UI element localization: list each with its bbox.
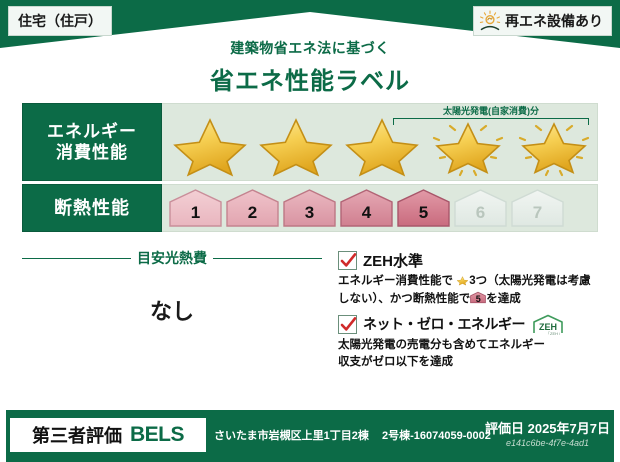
checkbox-checked: [338, 315, 357, 334]
svg-text:「ZEH」: 「ZEH」: [546, 330, 562, 335]
claim-net-zero-energy-description: 太陽光発電の売電分も含めてエネルギー 収支がゼロ以下を達成: [338, 337, 600, 370]
insulation-performance-label: 断熱性能: [22, 184, 162, 232]
utility-cost-heading: 目安光熱費: [22, 248, 322, 268]
checkbox-checked: [338, 251, 357, 270]
insulation-badge-inactive: 7: [510, 188, 565, 228]
claim-zeh-standard-header: ZEH水準: [338, 250, 600, 271]
title-subtitle: 建築物省エネ法に基づく: [0, 38, 620, 58]
insulation-badge-value: 2: [248, 204, 257, 228]
bels-certification-badge: 第三者評価 BELS: [10, 418, 206, 452]
building-type-badge: 住宅（住戸）: [8, 6, 112, 36]
solar-annotation-label: 太陽光発電(自家消費)分: [393, 104, 589, 117]
insulation-badge-value: 6: [476, 204, 485, 228]
evaluation-date-value: 2025年7月7日: [528, 421, 610, 436]
star-icon-sparkle: [512, 116, 596, 178]
insulation-performance-row: 断熱性能: [22, 184, 598, 232]
star-icon: [168, 116, 252, 178]
insulation-badge: 1: [168, 188, 223, 228]
claim-net-zero-energy-header: ネット・ゼロ・エネルギー ZEH 「ZEH」: [338, 313, 600, 335]
heading-rule-left: [22, 258, 131, 259]
evaluation-date-line: 評価日 2025年7月7日: [485, 418, 610, 437]
insulation-badge-inactive: 6: [453, 188, 508, 228]
renewable-equipment-badge: 再エネ設備あり: [473, 6, 612, 36]
star-icon: [254, 116, 338, 178]
insulation-badge-value: 1: [191, 204, 200, 228]
address-text: さいたま市岩槻区上里1丁目2棟: [214, 430, 369, 442]
rating-table: エネルギー 消費性能 太陽光発電(自家消費)分: [22, 103, 598, 232]
insulation-badge-value: 4: [362, 204, 371, 228]
claim-zeh-standard-description: エネルギー消費性能で 3つ（太陽光発電は考慮しない）、かつ断熱性能で 5 を達成: [338, 273, 600, 307]
insulation-badge: 3: [282, 188, 337, 228]
label-titles: 建築物省エネ法に基づく 省エネ性能ラベル: [0, 38, 620, 96]
certificate-hash: e141c6be-4f7e-4ad1: [485, 438, 610, 448]
insulation-grade-scale: 1 2 3: [168, 188, 565, 228]
zeh-house-logo: ZEH 「ZEH」: [531, 313, 565, 335]
insulation-badge-value: 3: [305, 204, 314, 228]
bels-third-party-label: 第三者評価: [32, 422, 122, 448]
energy-performance-row: エネルギー 消費性能 太陽光発電(自家消費)分: [22, 103, 598, 181]
bels-energy-label: 住宅（住戸） 再エネ設備あり 建築物省エネ法に基づく: [0, 0, 620, 462]
zeh-claims-section: ZEH水準 エネルギー消費性能で 3つ（太陽光発電は考慮しない）、かつ断熱性能で…: [338, 250, 600, 377]
insulation-performance-value: 1 2 3: [162, 184, 598, 232]
label-footer: 第三者評価 BELS さいたま市岩槻区上里1丁目2棟 2号棟-16074059-…: [0, 410, 620, 462]
utility-cost-value: なし: [22, 294, 322, 326]
insulation-badge-value: 5: [419, 204, 428, 228]
sun-icon: [478, 10, 502, 32]
solar-annotation-bracket: [393, 118, 589, 125]
solar-generation-annotation: 太陽光発電(自家消費)分: [393, 104, 589, 125]
insulation-badge-value: 7: [533, 204, 542, 228]
evaluation-date-block: 評価日 2025年7月7日 e141c6be-4f7e-4ad1: [485, 418, 610, 448]
insulation-badge: 5: [396, 188, 451, 228]
unit-number: 2号棟-16074059-0002: [382, 430, 491, 442]
energy-performance-value: 太陽光発電(自家消費)分: [162, 103, 598, 181]
energy-performance-label: エネルギー 消費性能: [22, 103, 162, 181]
insulation-badge-inline: 5: [470, 290, 486, 305]
evaluation-date-label: 評価日: [485, 421, 524, 436]
claim-zeh-standard: ZEH水準 エネルギー消費性能で 3つ（太陽光発電は考慮しない）、かつ断熱性能で…: [338, 250, 600, 307]
star-rating: [162, 116, 597, 178]
insulation-badge-inline-value: 5: [470, 295, 486, 304]
insulation-badge: 4: [339, 188, 394, 228]
claim-net-zero-energy-title: ネット・ゼロ・エネルギー: [363, 314, 525, 334]
claim-net-zero-energy: ネット・ゼロ・エネルギー ZEH 「ZEH」 太陽光発電の売電分も含めてエネルギ…: [338, 313, 600, 370]
bels-logo-text: BELS: [130, 423, 184, 447]
utility-cost-heading-label: 目安光熱費: [137, 248, 207, 268]
star-icon-sparkle: [426, 116, 510, 178]
heading-rule-right: [213, 258, 322, 259]
star-icon: [340, 116, 424, 178]
title-main: 省エネ性能ラベル: [0, 61, 620, 96]
renewable-badge-label: 再エネ設備あり: [505, 11, 603, 31]
claim-zeh-standard-title: ZEH水準: [363, 250, 423, 271]
star-icon: [456, 275, 469, 288]
utility-cost-section: 目安光熱費 なし: [22, 248, 322, 326]
insulation-badge: 2: [225, 188, 280, 228]
property-address: さいたま市岩槻区上里1丁目2棟 2号棟-16074059-0002: [214, 427, 491, 443]
